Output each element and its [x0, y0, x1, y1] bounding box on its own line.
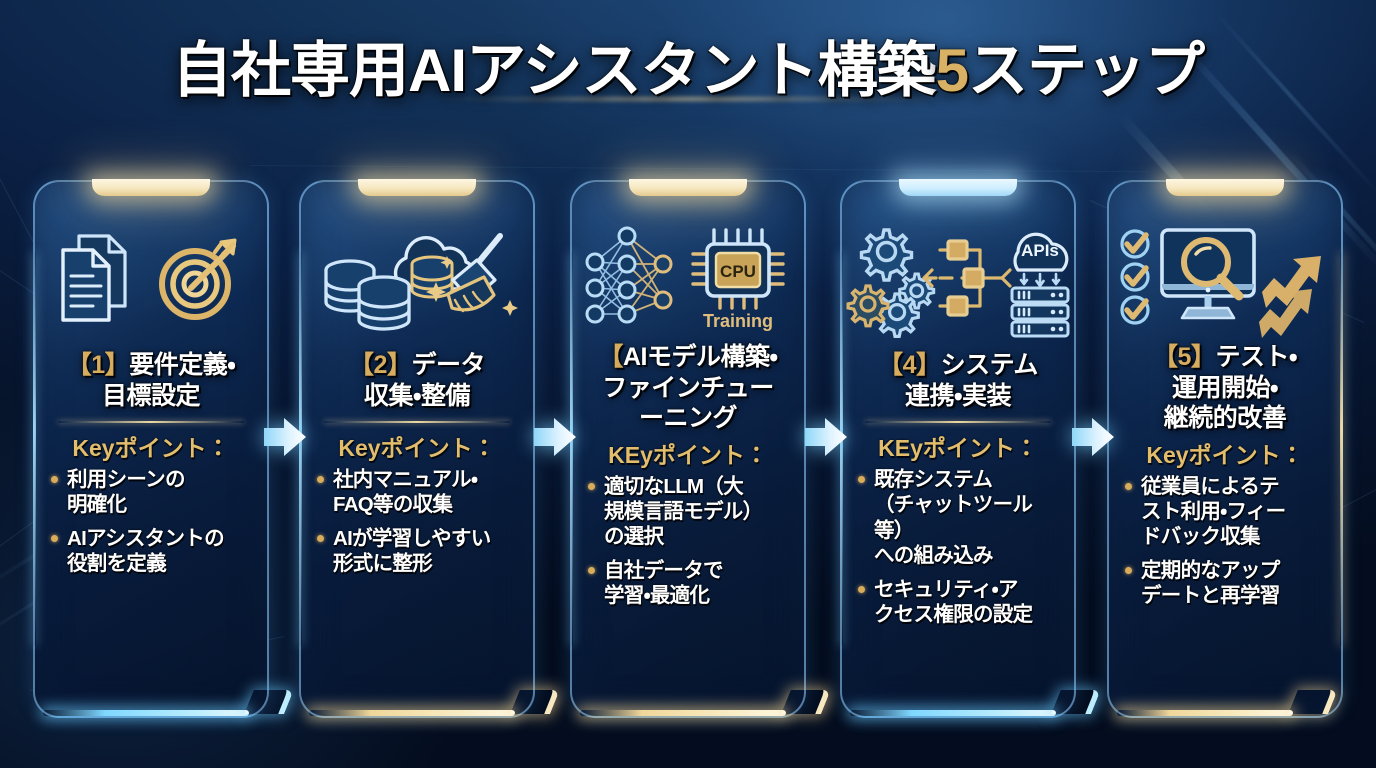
- apis-label: APIs: [1021, 241, 1059, 260]
- growth-arrows-icon: [1259, 256, 1321, 338]
- card-bottom-glow: [43, 706, 289, 722]
- list-item: セキュリティ・ア クセス権限の設定: [856, 577, 1066, 628]
- card-notch: [629, 179, 747, 196]
- connector-arrow-4-to-5: [1070, 408, 1116, 466]
- integration-icons: APIs: [852, 222, 1064, 334]
- apis-cloud-server-icon: APIs: [1012, 234, 1068, 336]
- card-5-body: 【5】テスト・ 運用開始・ 継続的改善 Keyポイント： 従業員によるテ スト利…: [1117, 342, 1333, 617]
- card-bottom-glow: [580, 706, 826, 722]
- cpu-label: CPU: [720, 262, 756, 281]
- card-bottom-glow: [850, 706, 1096, 722]
- list-item: 既存システム （チャットツール等） への組み込み: [856, 467, 1066, 569]
- step-card-4[interactable]: APIs: [840, 180, 1076, 718]
- card-4-points: 既存システム （チャットツール等） への組み込み セキュリティ・ア クセス権限の…: [850, 467, 1066, 627]
- gears-icon: [848, 230, 934, 336]
- card-bottom-glow: [1117, 706, 1333, 722]
- card-3-body: 【AIモデル構築・ ファインチュー ーニング KEyポイント： 適切なLLM（大…: [580, 342, 796, 617]
- page-title-wrap: 自社専用AIアシスタント構築5ステップ: [0, 22, 1376, 109]
- card-notch: [1166, 179, 1284, 196]
- title-highlight: 5: [936, 37, 968, 104]
- step-card-2[interactable]: 【2】データ 収集・整備 Keyポイント： 社内マニュアル・ FAQ等の収集 A…: [299, 180, 535, 718]
- card-3-icons: CPU Training: [572, 208, 804, 348]
- card-2-icons: [301, 208, 533, 348]
- model-build-icons: CPU Training: [581, 218, 795, 338]
- card-3-key-label: KEyポイント：: [580, 436, 796, 470]
- card-4-icons: APIs: [842, 208, 1074, 348]
- card-4-divider: [865, 421, 1051, 423]
- card-1-body: 【1】要件定義・ 目標設定 Keyポイント： 利用シーンの 明確化 AIアシスタ…: [43, 350, 259, 585]
- card-3-title-text: AIモデル構築・ ファインチュー ーニング: [602, 343, 777, 432]
- target-arrow-icon: [151, 230, 247, 326]
- card-4-title: 【4】システム 連携・実装: [850, 350, 1066, 411]
- card-3-points: 適切なLLM（大 規模言語モデル） の選択 自社データで 学習・最適化: [580, 474, 796, 609]
- card-notch: [358, 179, 476, 196]
- list-item: 利用シーンの 明確化: [49, 467, 259, 518]
- data-collection-icons: [314, 224, 520, 332]
- card-1-number: 【1】: [67, 351, 129, 379]
- test-improve-icons: [1118, 222, 1332, 334]
- page-title: 自社専用AIアシスタント構築5ステップ: [172, 22, 1204, 109]
- bg-polygon-line-7: [250, 165, 1150, 172]
- title-suffix: ステップ: [968, 37, 1204, 104]
- card-5-icons: [1109, 208, 1341, 348]
- training-label: Training: [703, 311, 773, 331]
- card-4-number: 【4】: [878, 351, 940, 379]
- card-5-key-label: Keyポイント：: [1117, 436, 1333, 470]
- card-4-key-label: KEyポイント：: [850, 429, 1066, 463]
- flow-diagram-icon: [924, 241, 1010, 315]
- card-2-title: 【2】データ 収集・整備: [309, 350, 525, 411]
- card-5-points: 従業員によるテ スト利用・フィー ドバック収集 定期的なアップ デートと再学習: [1117, 474, 1333, 609]
- card-3-number: 【: [598, 343, 623, 371]
- list-item: AIアシスタントの 役割を定義: [49, 526, 259, 577]
- card-1-title: 【1】要件定義・ 目標設定: [43, 350, 259, 411]
- connector-arrow-1-to-2: [262, 408, 308, 466]
- list-item: 適切なLLM（大 規模言語モデル） の選択: [586, 474, 796, 550]
- card-1-key-label: Keyポイント：: [43, 429, 259, 463]
- list-item: 自社データで 学習・最適化: [586, 558, 796, 609]
- card-2-divider: [324, 421, 510, 423]
- checklist-icon: [1122, 231, 1148, 323]
- card-4-body: 【4】システム 連携・実装 KEyポイント： 既存システム （チャットツール等）…: [850, 350, 1066, 635]
- title-prefix: 自社専用AIアシスタント構築: [172, 37, 936, 104]
- step-card-3[interactable]: CPU Training 【AIモデル構築・ ファインチュー ーニング KEyポ…: [570, 180, 806, 718]
- card-1-divider: [58, 421, 244, 423]
- cpu-training-icon: CPU Training: [693, 230, 783, 331]
- card-2-points: 社内マニュアル・ FAQ等の収集 AIが学習しやすい 形式に整形: [309, 467, 525, 577]
- card-2-number: 【2】: [349, 351, 411, 379]
- card-bottom-glow: [309, 706, 555, 722]
- list-item: 定期的なアップ デートと再学習: [1123, 558, 1333, 609]
- card-3-title: 【AIモデル構築・ ファインチュー ーニング: [580, 342, 796, 434]
- card-2-body: 【2】データ 収集・整備 Keyポイント： 社内マニュアル・ FAQ等の収集 A…: [309, 350, 525, 585]
- card-5-number: 【5】: [1153, 343, 1215, 371]
- card-notch: [899, 179, 1017, 196]
- card-5-title: 【5】テスト・ 運用開始・ 継続的改善: [1117, 342, 1333, 434]
- card-notch: [92, 179, 210, 196]
- list-item: 社内マニュアル・ FAQ等の収集: [315, 467, 525, 518]
- connector-arrow-2-to-3: [532, 408, 578, 466]
- infographic-canvas: 自社専用AIアシスタント構築5ステップ: [0, 0, 1376, 768]
- connector-arrow-3-to-4: [803, 408, 849, 466]
- documents-icon: [55, 230, 143, 326]
- list-item: 従業員によるテ スト利用・フィー ドバック収集: [1123, 474, 1333, 550]
- card-1-points: 利用シーンの 明確化 AIアシスタントの 役割を定義: [43, 467, 259, 577]
- list-item: AIが学習しやすい 形式に整形: [315, 526, 525, 577]
- neural-network-icon: [587, 228, 671, 322]
- card-2-key-label: Keyポイント：: [309, 429, 525, 463]
- card-1-icons: [35, 208, 267, 348]
- monitor-magnifier-icon: [1162, 230, 1254, 318]
- step-card-5[interactable]: 【5】テスト・ 運用開始・ 継続的改善 Keyポイント： 従業員によるテ スト利…: [1107, 180, 1343, 718]
- step-card-1[interactable]: 【1】要件定義・ 目標設定 Keyポイント： 利用シーンの 明確化 AIアシスタ…: [33, 180, 269, 718]
